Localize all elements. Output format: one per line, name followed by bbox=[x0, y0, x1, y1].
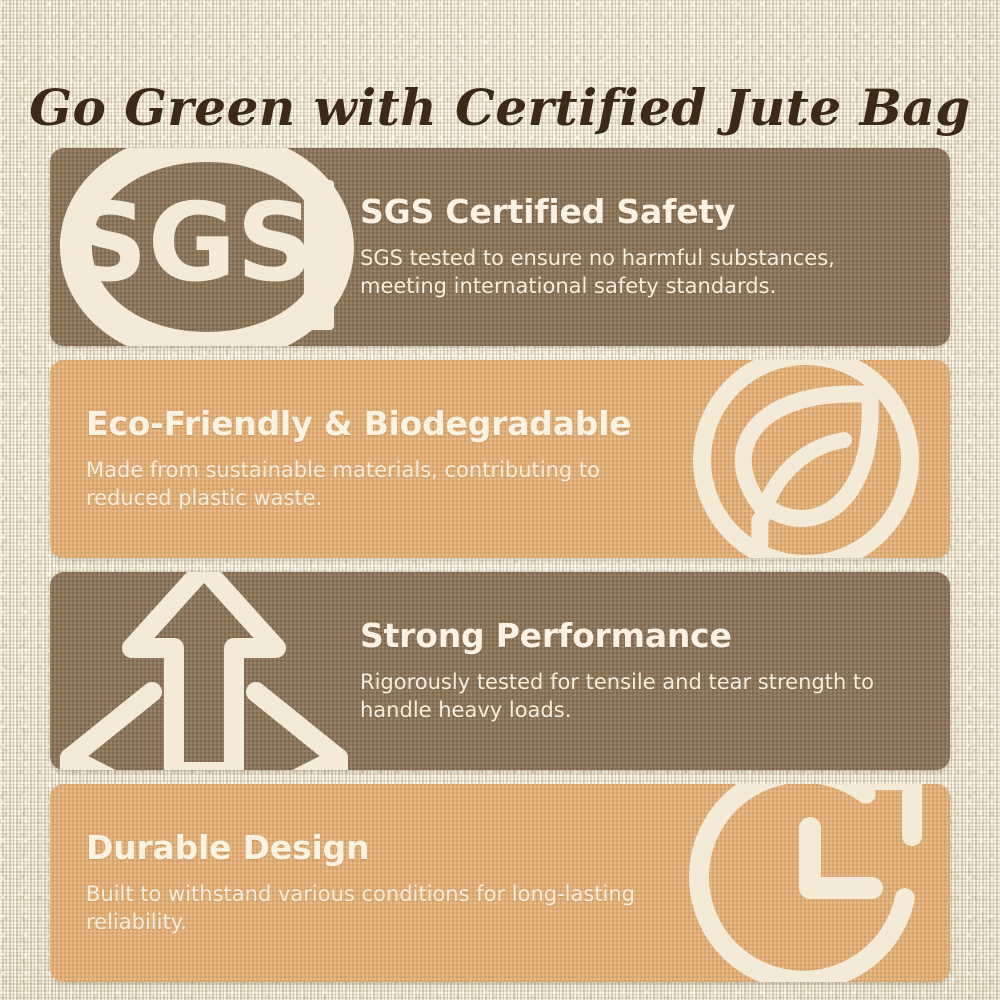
card-heading: Eco-Friendly & Biodegradable bbox=[86, 406, 640, 442]
card-text-block: SGS Certified Safety SGS tested to ensur… bbox=[350, 194, 950, 301]
feature-card-strong-performance: Strong Performance Rigorously tested for… bbox=[50, 572, 950, 770]
card-body: SGS tested to ensure no harmful substanc… bbox=[360, 244, 910, 301]
leaf-in-circle-icon bbox=[650, 360, 950, 558]
feature-card-durable-design: Durable Design Built to withstand variou… bbox=[50, 784, 950, 982]
card-body: Built to withstand various conditions fo… bbox=[86, 880, 640, 937]
clock-rotate-icon bbox=[650, 784, 950, 982]
card-body: Rigorously tested for tensile and tear s… bbox=[360, 668, 910, 725]
card-text-block: Eco-Friendly & Biodegradable Made from s… bbox=[50, 406, 650, 513]
card-heading: Durable Design bbox=[86, 830, 640, 866]
feature-card-eco-friendly-biodegradable: Eco-Friendly & Biodegradable Made from s… bbox=[50, 360, 950, 558]
page-title: Go Green with Certified Jute Bag bbox=[0, 78, 1000, 137]
card-text-block: Strong Performance Rigorously tested for… bbox=[350, 618, 950, 725]
feature-card-list: SGS SGS Certified Safety SGS tested to e… bbox=[50, 148, 950, 996]
sgs-logo-icon: SGS bbox=[50, 148, 350, 346]
card-heading: Strong Performance bbox=[360, 618, 910, 654]
card-body: Made from sustainable materials, contrib… bbox=[86, 456, 640, 513]
arrow-up-from-box-icon bbox=[50, 572, 350, 770]
card-text-block: Durable Design Built to withstand variou… bbox=[50, 830, 650, 937]
sgs-wordmark: SGS bbox=[70, 181, 314, 306]
card-heading: SGS Certified Safety bbox=[360, 194, 910, 230]
feature-card-sgs-certified-safety: SGS SGS Certified Safety SGS tested to e… bbox=[50, 148, 950, 346]
